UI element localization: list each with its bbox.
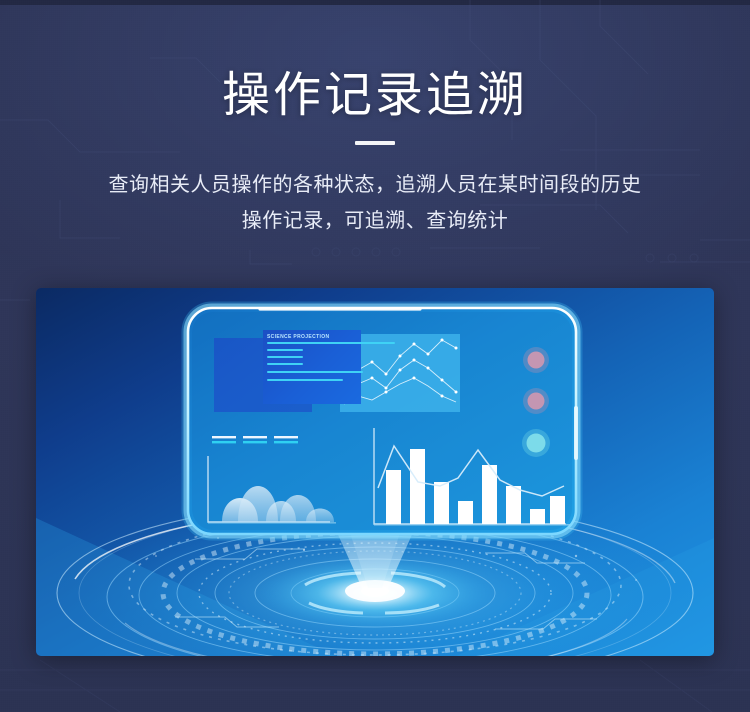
title-divider <box>355 141 395 145</box>
illustration-panel: SCIENCE PROJECTION <box>36 288 714 656</box>
hologram-illustration <box>36 288 714 656</box>
promo-page: 操作记录追溯 查询相关人员操作的各种状态，追溯人员在某时间段的历史 操作记录，可… <box>0 0 750 712</box>
subtitle-line-1: 查询相关人员操作的各种状态，追溯人员在某时间段的历史 <box>109 174 642 196</box>
page-subtitle: 查询相关人员操作的各种状态，追溯人员在某时间段的历史 操作记录，可追溯、查询统计 <box>60 167 690 239</box>
page-header: 操作记录追溯 查询相关人员操作的各种状态，追溯人员在某时间段的历史 操作记录，可… <box>0 0 750 239</box>
page-title: 操作记录追溯 <box>0 68 750 123</box>
subtitle-line-2: 操作记录，可追溯、查询统计 <box>242 210 509 232</box>
